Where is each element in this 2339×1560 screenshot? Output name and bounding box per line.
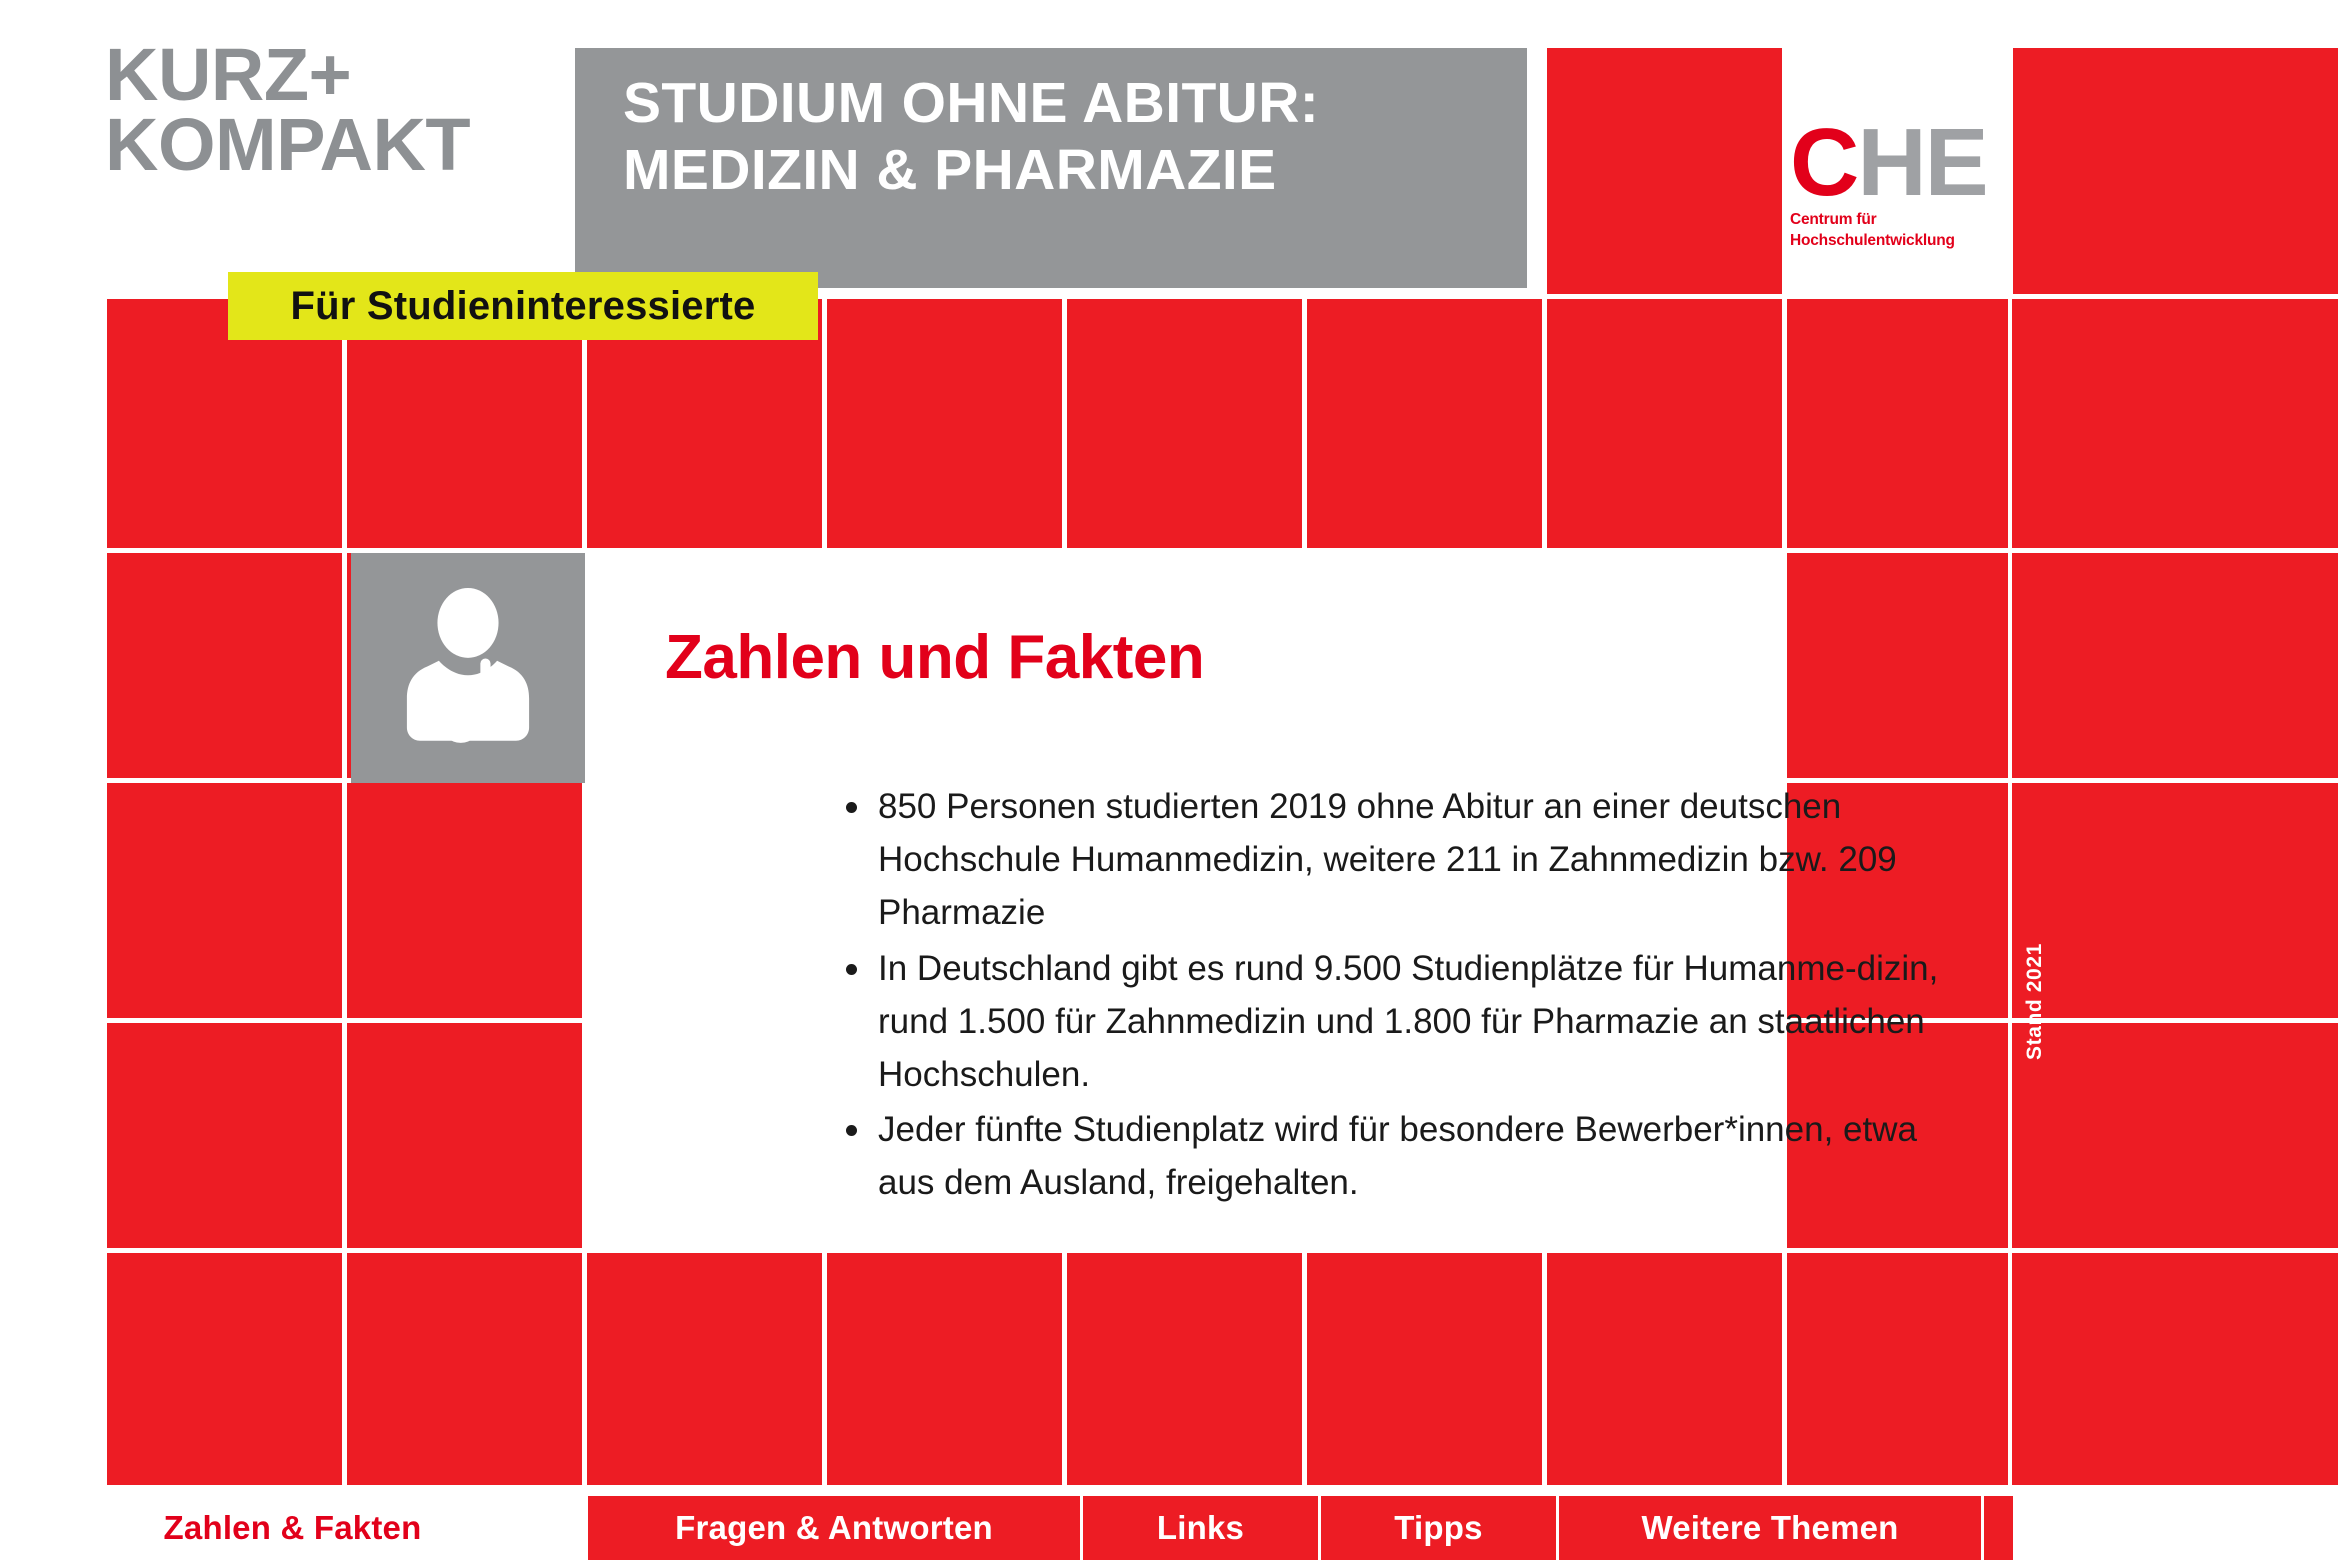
nav-item-weitere-themen[interactable]: Weitere Themen [1556, 1496, 1981, 1560]
title-banner: STUDIUM OHNE ABITUR: MEDIZIN & PHARMAZIE [575, 48, 1527, 288]
grid-tile-far-r0 [2012, 299, 2338, 548]
grid-tile-r3-c0 [107, 1023, 342, 1248]
grid-tile-far-r2 [2012, 783, 2338, 1018]
grid-tile-r0-c4 [1067, 299, 1302, 548]
nav-item-label: Weitere Themen [1641, 1509, 1898, 1547]
grid-tile-header-c6 [1547, 48, 1782, 294]
grid-tile-r0-c5 [1307, 299, 1542, 548]
che-logo: CHE Centrum für Hochschulentwicklung [1790, 120, 2010, 280]
grid-tile-header-right [2012, 48, 2338, 294]
grid-tile-far-r1 [2012, 553, 2338, 778]
kicker-line-2: KOMPAKT [105, 110, 625, 180]
publication-kicker: KURZ+ KOMPAKT [105, 40, 625, 181]
kicker-line-1: KURZ+ [105, 40, 625, 110]
grid-tile-r4-c7 [1787, 1253, 2008, 1485]
grid-tile-r2-c0 [107, 783, 342, 1018]
grid-tile-r4-c3 [827, 1253, 1062, 1485]
grid-tile-far-r3 [2012, 1023, 2338, 1248]
fact-item: Jeder fünfte Studienplatz wird für beson… [838, 1103, 1948, 1209]
nav-item-links[interactable]: Links [1080, 1496, 1318, 1560]
nav-item-fragen-antworten[interactable]: Fragen & Antworten [585, 1496, 1080, 1560]
nav-item-zahlen-fakten[interactable]: Zahlen & Fakten [0, 1496, 585, 1560]
grid-tile-r4-c4 [1067, 1253, 1302, 1485]
che-tagline: Centrum für Hochschulentwicklung [1790, 210, 2010, 251]
nav-item-tipps[interactable]: Tipps [1318, 1496, 1556, 1560]
che-logo-he: HE [1857, 109, 1986, 216]
nav-item-label: Fragen & Antworten [675, 1509, 993, 1547]
grid-tile-far-r4 [2012, 1253, 2338, 1485]
audience-badge-label: Für Studieninteressierte [291, 284, 756, 329]
grid-tile-r0-c6 [1547, 299, 1782, 548]
section-title: Zahlen und Fakten [665, 622, 1204, 693]
grid-tile-r4-c1 [347, 1253, 582, 1485]
fact-item: 850 Personen studierten 2019 ohne Abitur… [838, 780, 1948, 940]
nav-filler [1981, 1496, 2013, 1560]
grid-tile-r3-c1 [347, 1023, 582, 1248]
fact-item: In Deutschland gibt es rund 9.500 Studie… [838, 942, 1948, 1102]
grid-tile-r4-c2 [587, 1253, 822, 1485]
grid-tile-r2-c1 [347, 783, 582, 1018]
facts-list: 850 Personen studierten 2019 ohne Abitur… [838, 780, 1948, 1212]
grid-tile-r4-c6 [1547, 1253, 1782, 1485]
nav-item-label: Links [1157, 1509, 1244, 1547]
audience-badge: Für Studieninteressierte [228, 272, 818, 340]
grid-tile-r0-c7 [1787, 299, 2008, 548]
che-tagline-line-2: Hochschulentwicklung [1790, 231, 2010, 251]
grid-tile-r4-c0 [107, 1253, 342, 1485]
title-line-2: MEDIZIN & PHARMAZIE [623, 137, 1527, 204]
doctor-stethoscope-icon [351, 553, 585, 783]
che-logo-c: C [1790, 109, 1857, 216]
grid-tile-r1-c7 [1787, 553, 2008, 778]
che-wordmark: CHE [1790, 120, 2010, 206]
nav-item-label: Zahlen & Fakten [164, 1509, 422, 1547]
nav-item-label: Tipps [1394, 1509, 1482, 1547]
grid-tile-r1-c0 [107, 553, 342, 778]
edition-note: Stand 2021 [2023, 943, 2047, 1060]
section-nav: Zahlen & FaktenFragen & AntwortenLinksTi… [0, 1496, 2339, 1560]
grid-tile-r0-c3 [827, 299, 1062, 548]
grid-tile-r4-c5 [1307, 1253, 1542, 1485]
title-line-1: STUDIUM OHNE ABITUR: [623, 70, 1527, 137]
